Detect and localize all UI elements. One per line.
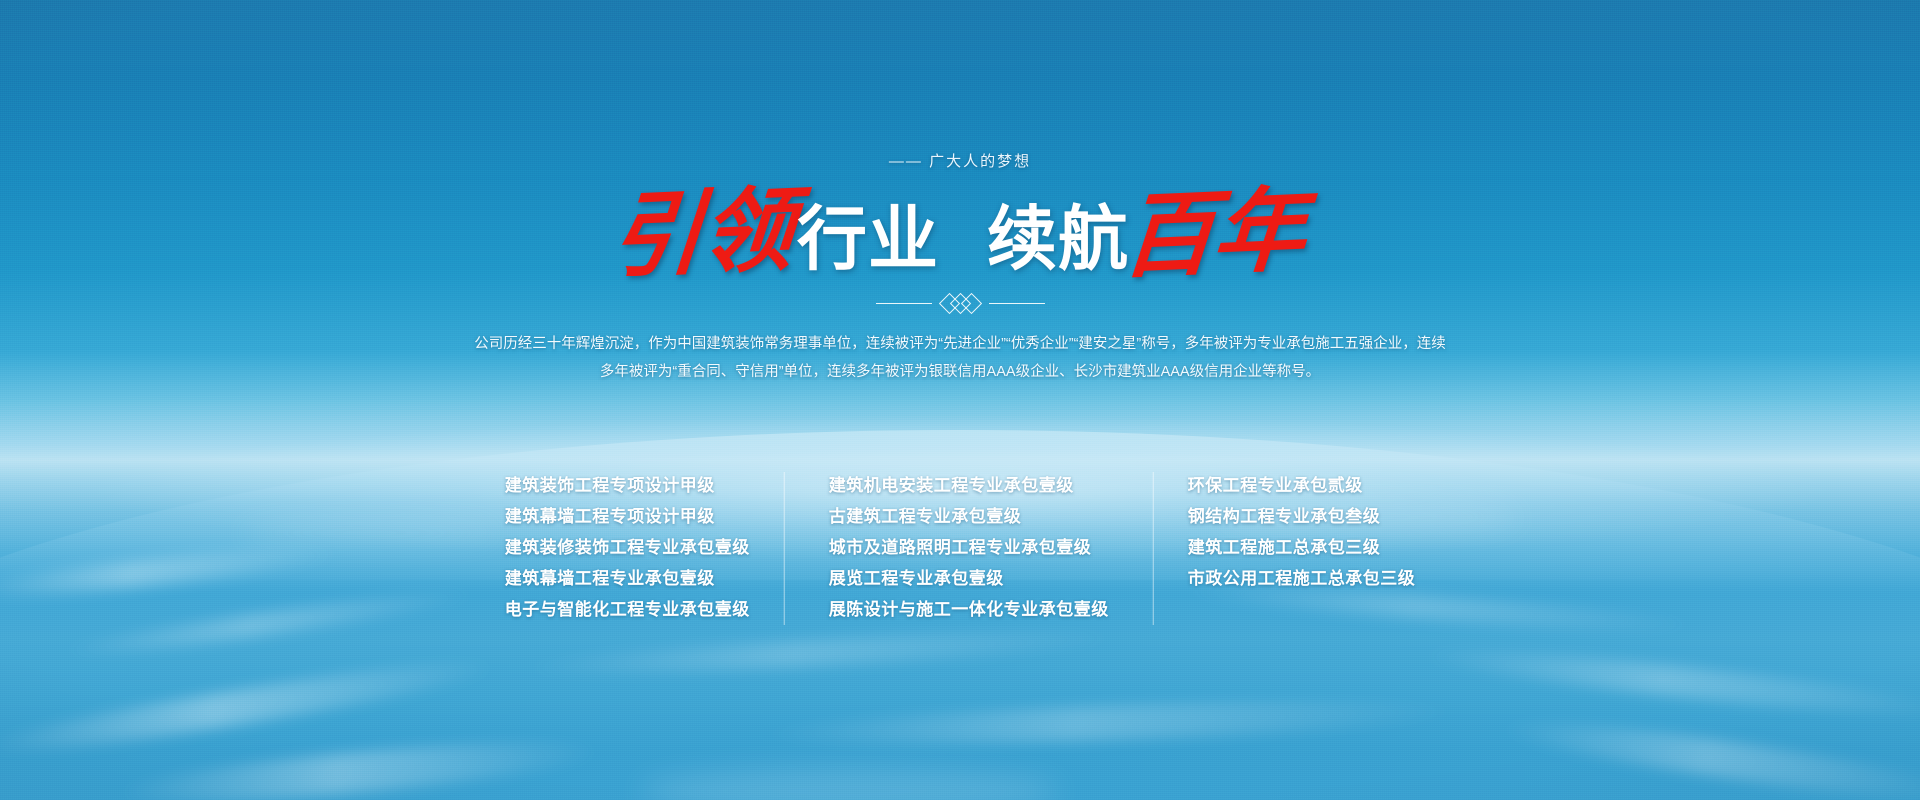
qualification-item[interactable]: 城市及道路照明工程专业承包壹级: [829, 532, 1109, 563]
qualification-item[interactable]: 钢结构工程专业承包叁级: [1188, 501, 1416, 532]
tagline: —— 广大人的梦想: [0, 150, 1920, 171]
intro-line-2: 多年被评为“重合同、守信用”单位，连续多年被评为银联信用AAA级企业、长沙市建筑…: [410, 358, 1510, 386]
headline-white-industry: 行业: [797, 204, 939, 274]
headline-white-endurance: 续航: [987, 204, 1129, 274]
qualification-column-1: 建筑装饰工程专项设计甲级 建筑幕墙工程专项设计甲级 建筑装修装饰工程专业承包壹级…: [471, 470, 784, 625]
headline-red-century: 百年: [1119, 183, 1313, 283]
qualification-item[interactable]: 建筑工程施工总承包三级: [1188, 532, 1416, 563]
qualification-item[interactable]: 展览工程专业承包壹级: [829, 563, 1109, 594]
qualification-item[interactable]: 展陈设计与施工一体化专业承包壹级: [829, 594, 1109, 625]
qualifications-list: 建筑装饰工程专项设计甲级 建筑幕墙工程专项设计甲级 建筑装修装饰工程专业承包壹级…: [471, 470, 1450, 625]
headline-red-lead: 引领: [607, 183, 801, 283]
qualification-item[interactable]: 建筑幕墙工程专项设计甲级: [505, 501, 750, 532]
banner-stage: —— 广大人的梦想 引领 行业 续航 百年 公司历经三十年辉煌沉淀，作为中国建筑…: [0, 0, 1920, 800]
qualification-item[interactable]: 建筑幕墙工程专业承包壹级: [505, 563, 750, 594]
qualification-item[interactable]: 建筑装修装饰工程专业承包壹级: [505, 532, 750, 563]
qualification-item[interactable]: 建筑装饰工程专项设计甲级: [505, 470, 750, 501]
diamond-group-icon: [942, 296, 979, 311]
intro-paragraph: 公司历经三十年辉煌沉淀，作为中国建筑装饰常务理事单位，连续被评为“先进企业”“优…: [410, 330, 1510, 386]
ornament-divider: [0, 296, 1920, 311]
divider-line-left: [876, 303, 932, 304]
qualification-item[interactable]: 电子与智能化工程专业承包壹级: [505, 594, 750, 625]
qualification-column-3: 环保工程专业承包贰级 钢结构工程专业承包叁级 建筑工程施工总承包三级 市政公用工…: [1154, 470, 1450, 594]
qualification-item[interactable]: 市政公用工程施工总承包三级: [1188, 563, 1416, 594]
qualification-item[interactable]: 古建筑工程专业承包壹级: [829, 501, 1109, 532]
headline: 引领 行业 续航 百年: [0, 178, 1920, 288]
qualification-column-2: 建筑机电安装工程专业承包壹级 古建筑工程专业承包壹级 城市及道路照明工程专业承包…: [785, 470, 1153, 625]
qualification-item[interactable]: 环保工程专业承包贰级: [1188, 470, 1416, 501]
divider-line-right: [989, 303, 1045, 304]
qualification-item[interactable]: 建筑机电安装工程专业承包壹级: [829, 470, 1109, 501]
intro-line-1: 公司历经三十年辉煌沉淀，作为中国建筑装饰常务理事单位，连续被评为“先进企业”“优…: [410, 330, 1510, 358]
banner-content: —— 广大人的梦想 引领 行业 续航 百年 公司历经三十年辉煌沉淀，作为中国建筑…: [0, 0, 1920, 800]
